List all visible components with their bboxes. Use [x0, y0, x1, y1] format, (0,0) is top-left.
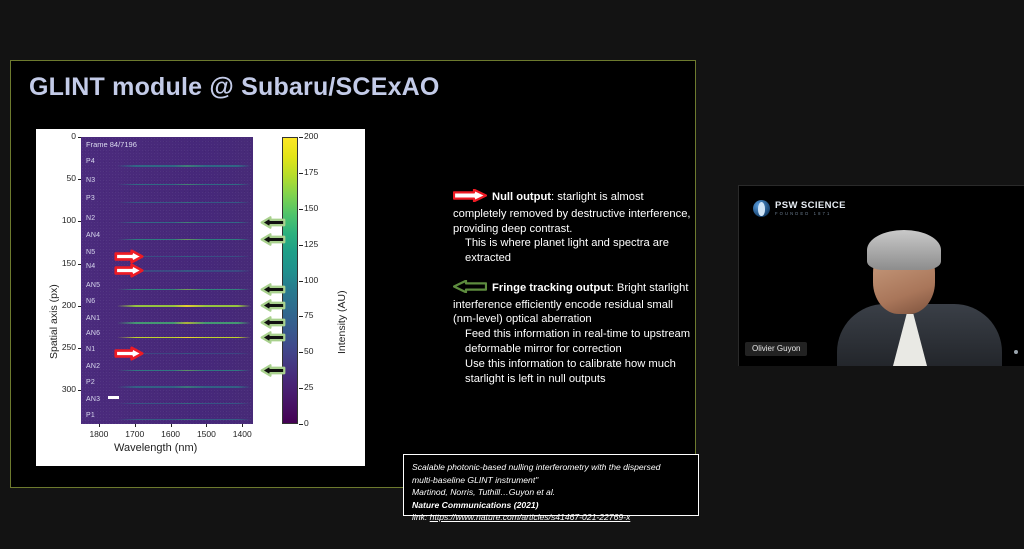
citation-link-prefix: link:: [412, 512, 430, 522]
colorbar-tick-mark: [299, 209, 303, 210]
output-row-label: N1: [86, 346, 95, 353]
citation-link-row: link: https://www.nature.com/articles/s4…: [412, 511, 690, 524]
speaker-name-label: Olivier Guyon: [745, 342, 807, 357]
output-row-label: N4: [86, 263, 95, 270]
y-axis-tick-mark: [78, 306, 81, 307]
y-axis-label: Spatial axis (px): [48, 284, 60, 359]
output-row-label: N6: [86, 298, 95, 305]
x-axis-tick-mark: [206, 424, 207, 427]
output-row-label: N2: [86, 215, 95, 222]
notes-panel: Null output: starlight is almost complet…: [453, 189, 693, 389]
colorbar-tick-label: 100: [304, 275, 318, 285]
citation-link[interactable]: https://www.nature.com/articles/s41467-0…: [430, 512, 631, 522]
colorbar-tick-label: 200: [304, 131, 318, 141]
scale-bar: [108, 396, 119, 399]
red-right-arrow-icon: [114, 249, 144, 264]
screen: GLINT module @ Subaru/SCExAO Olivier Guy…: [0, 0, 1024, 549]
colorbar-tick-label: 50: [304, 346, 313, 356]
colorbar-tick-label: 150: [304, 203, 318, 213]
citation-title-line-1: Scalable photonic-based nulling interfer…: [412, 461, 690, 474]
note-null-heading: Null output: [492, 191, 551, 203]
heatmap-noise: [81, 137, 253, 424]
green-left-arrow-icon: [260, 283, 286, 296]
spectral-trace: [117, 305, 251, 307]
y-axis-tick-mark: [78, 179, 81, 180]
output-row-label: N5: [86, 249, 95, 256]
x-axis-tick-mark: [99, 424, 100, 427]
speaker-image: [837, 226, 1002, 366]
psw-logo-main: PSW SCIENCE: [775, 201, 846, 211]
speaker-hair: [867, 230, 941, 270]
green-left-arrow-icon: [260, 364, 286, 377]
presentation-slide: GLINT module @ Subaru/SCExAO Olivier Guy…: [10, 60, 696, 488]
x-axis-tick-label: 1800: [84, 429, 114, 439]
note-fringe-heading: Fringe tracking output: [492, 282, 611, 294]
y-axis-tick-mark: [78, 264, 81, 265]
colorbar-tick-label: 0: [304, 418, 309, 428]
spectral-trace: [117, 386, 251, 388]
spectral-trace: [117, 370, 251, 372]
citation-title-line-2: multi-baseline GLINT instrument": [412, 474, 690, 487]
red-right-arrow-icon: [114, 263, 144, 278]
spectral-trace: [117, 165, 251, 167]
output-row-label: AN2: [86, 363, 100, 370]
x-axis-tick-mark: [135, 424, 136, 427]
page-title: GLINT module @ Subaru/SCExAO: [29, 73, 440, 102]
psw-science-logo: PSW SCIENCE FOUNDED 1871: [753, 200, 846, 217]
x-axis-tick-label: 1400: [227, 429, 257, 439]
colorbar-tick-label: 125: [304, 239, 318, 249]
citation-authors: Martinod, Norris, Tuthill…Guyon et al.: [412, 486, 690, 499]
y-axis-tick-label: 150: [46, 258, 76, 268]
video-status-dot: [1014, 350, 1018, 354]
glint-figure: Frame 84/7196 P4N3P3N2AN4N5N4AN5N6AN1AN6…: [36, 129, 365, 466]
green-left-arrow-icon: [260, 299, 286, 312]
spectral-trace: [117, 322, 251, 324]
psw-logo-text: PSW SCIENCE FOUNDED 1871: [775, 201, 846, 217]
y-axis-tick-label: 0: [46, 131, 76, 141]
x-axis-tick-mark: [171, 424, 172, 427]
note-fringe-bullet-2: Use this information to calibrate how mu…: [453, 357, 693, 387]
colorbar-tick-label: 75: [304, 310, 313, 320]
output-row-label: N3: [86, 177, 95, 184]
note-fringe-output: Fringe tracking output: Bright starlight…: [453, 280, 693, 386]
y-axis-tick-label: 300: [46, 384, 76, 394]
spectral-trace: [117, 403, 251, 405]
output-row-label: AN1: [86, 315, 100, 322]
colorbar-tick-mark: [299, 173, 303, 174]
colorbar-label: Intensity (AU): [336, 290, 348, 354]
colorbar-tick-mark: [299, 424, 303, 425]
note-fringe-bullet-1: Feed this information in real-time to up…: [453, 327, 693, 357]
green-left-arrow-icon: [260, 216, 286, 229]
y-axis-tick-mark: [78, 348, 81, 349]
green-left-arrow-icon: [260, 331, 286, 344]
output-row-label: AN3: [86, 396, 100, 403]
output-row-label: P2: [86, 379, 95, 386]
x-axis-tick-mark: [242, 424, 243, 427]
colorbar-tick-mark: [299, 316, 303, 317]
x-axis-tick-label: 1700: [120, 429, 150, 439]
y-axis-tick-mark: [78, 221, 81, 222]
right-arrow-icon: [453, 189, 487, 207]
colorbar-tick-label: 175: [304, 167, 318, 177]
colorbar-tick-label: 25: [304, 382, 313, 392]
spectral-trace: [117, 202, 251, 204]
x-axis-tick-label: 1600: [156, 429, 186, 439]
citation-journal: Nature Communications (2021): [412, 499, 690, 512]
green-left-arrow-icon: [260, 316, 286, 329]
left-arrow-icon: [453, 280, 487, 298]
output-row-label: P1: [86, 412, 95, 419]
colorbar: [282, 137, 298, 424]
colorbar-tick-mark: [299, 352, 303, 353]
spectrogram-heatmap: Frame 84/7196 P4N3P3N2AN4N5N4AN5N6AN1AN6…: [81, 137, 253, 424]
spectral-trace: [117, 419, 251, 421]
spectral-trace: [117, 289, 251, 291]
note-null-output: Null output: starlight is almost complet…: [453, 189, 693, 266]
y-axis-tick-label: 50: [46, 173, 76, 183]
note-null-bullet: This is where planet light and spectra a…: [453, 236, 693, 266]
y-axis-tick-mark: [78, 137, 81, 138]
speaker-video-tile[interactable]: PSW SCIENCE FOUNDED 1871 Olivier Guyon: [738, 185, 1024, 366]
colorbar-tick-mark: [299, 281, 303, 282]
green-left-arrow-icon: [260, 233, 286, 246]
note-null-body: : starlight is almost completely removed…: [453, 191, 691, 235]
output-row-label: AN5: [86, 282, 100, 289]
citation-box: Scalable photonic-based nulling interfer…: [403, 454, 699, 516]
y-axis-tick-label: 100: [46, 215, 76, 225]
frame-counter-label: Frame 84/7196: [86, 140, 137, 149]
output-row-label: AN6: [86, 330, 100, 337]
red-right-arrow-icon: [114, 346, 144, 361]
colorbar-tick-mark: [299, 245, 303, 246]
output-row-label: AN4: [86, 232, 100, 239]
y-axis-tick-mark: [78, 390, 81, 391]
x-axis-tick-label: 1500: [191, 429, 221, 439]
output-row-label: P3: [86, 195, 95, 202]
colorbar-tick-mark: [299, 388, 303, 389]
x-axis-label: Wavelength (nm): [114, 442, 197, 454]
output-row-label: P4: [86, 158, 95, 165]
colorbar-tick-mark: [299, 137, 303, 138]
psw-globe-icon: [753, 200, 770, 217]
psw-logo-sub: FOUNDED 1871: [775, 212, 846, 216]
